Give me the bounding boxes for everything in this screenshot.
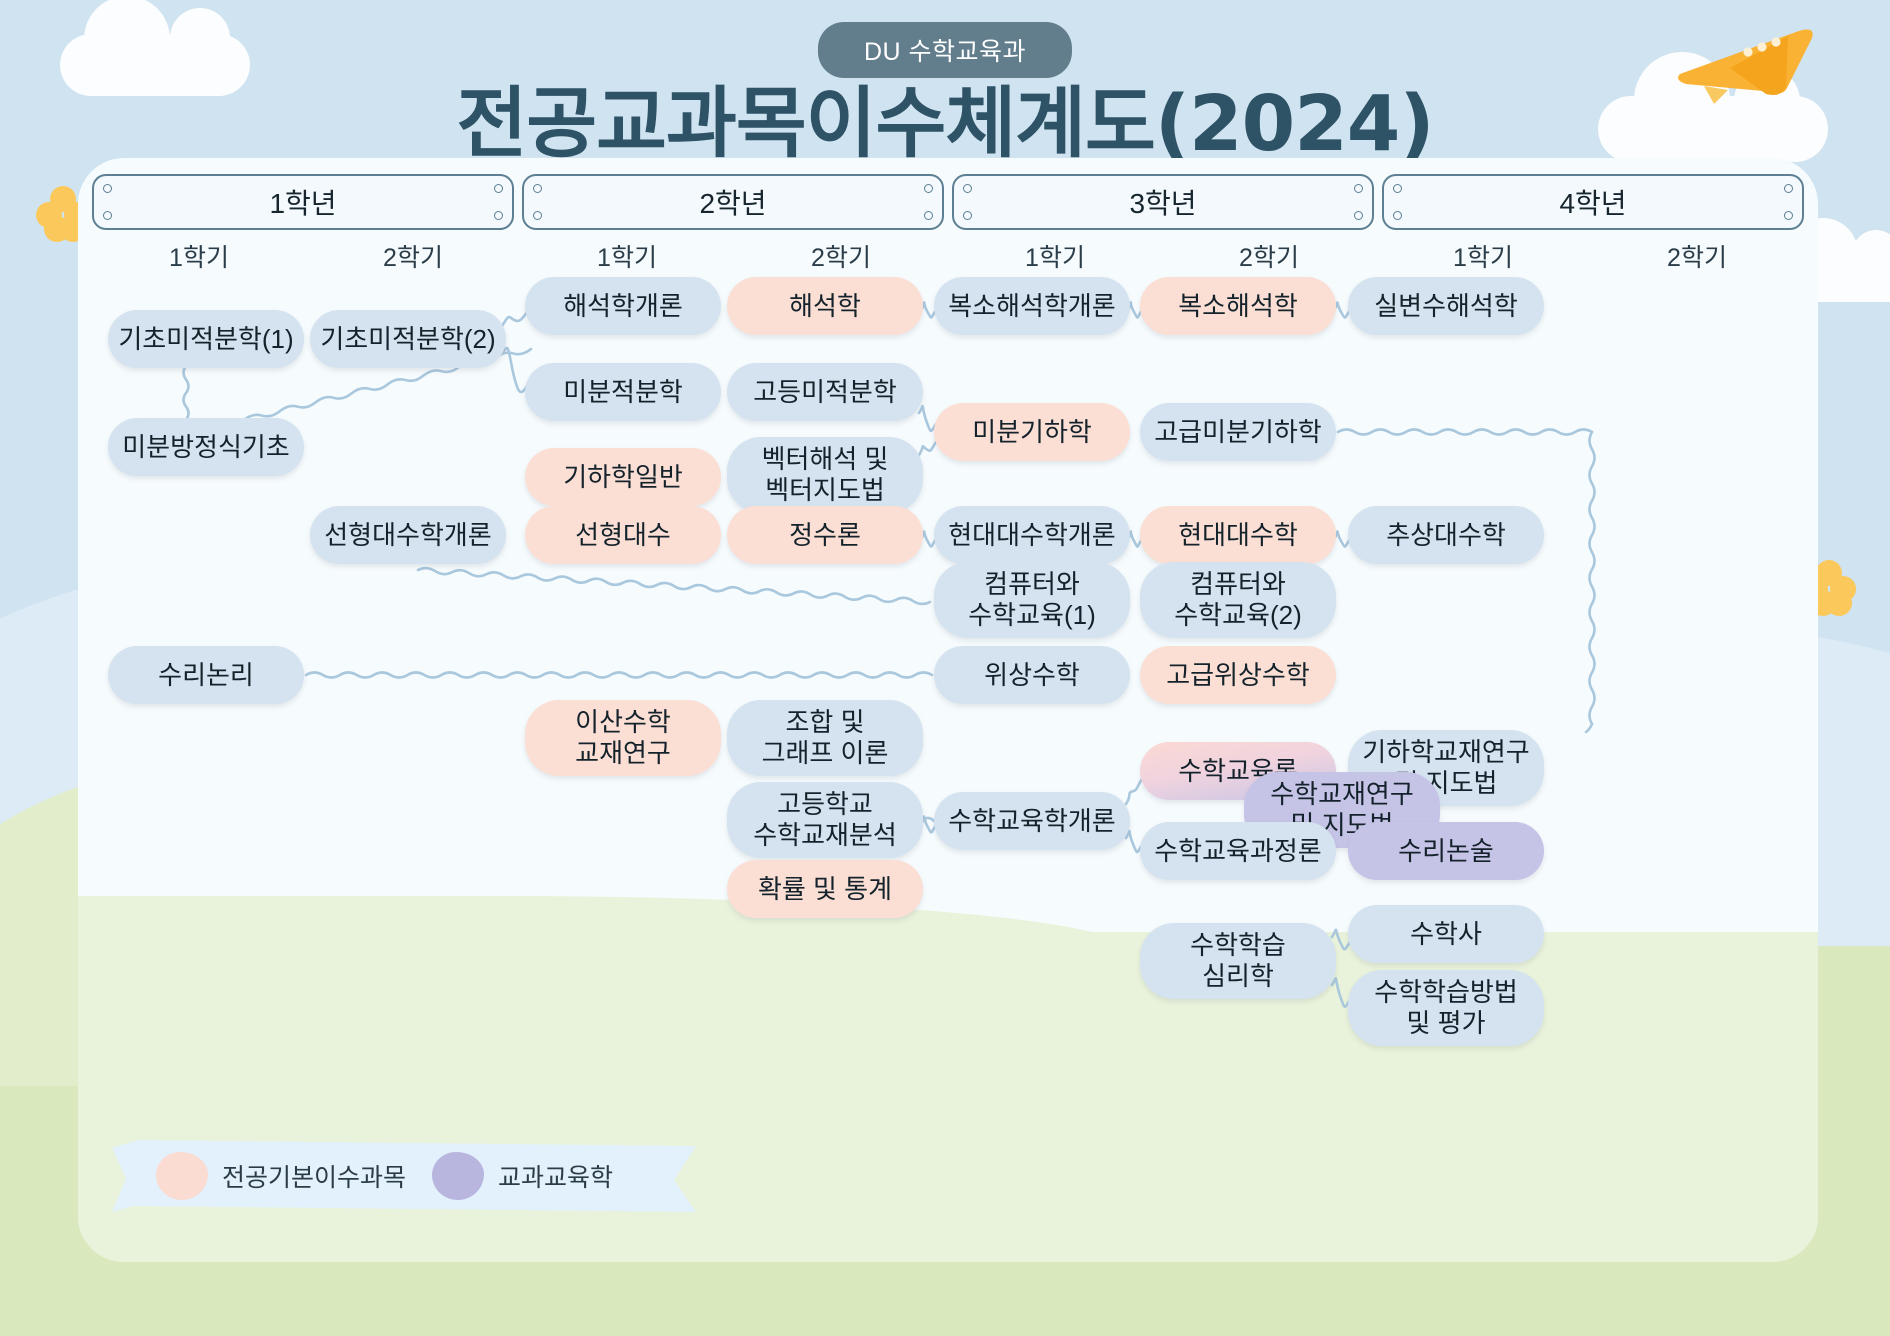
course-pill[interactable]: 수학교육학개론 bbox=[934, 792, 1130, 850]
course-pill[interactable]: 수학학습 심리학 bbox=[1140, 923, 1336, 999]
semester-label: 1학기 bbox=[1376, 238, 1590, 274]
semester-label: 1학기 bbox=[92, 238, 306, 274]
course-label: 수학교육학개론 bbox=[948, 806, 1115, 837]
semester-label: 2학기 bbox=[1590, 238, 1804, 274]
year-box-2[interactable]: 2학년 bbox=[522, 174, 944, 230]
year-box-4[interactable]: 4학년 bbox=[1382, 174, 1804, 230]
course-label: 이산수학 교재연구 bbox=[575, 707, 671, 768]
course-label: 기초미적분학(2) bbox=[320, 324, 495, 355]
course-pill[interactable]: 조합 및 그래프 이론 bbox=[727, 700, 923, 776]
panel-green-section bbox=[78, 932, 1818, 1262]
course-pill[interactable]: 미분기하학 bbox=[934, 403, 1130, 461]
course-label: 조합 및 그래프 이론 bbox=[762, 707, 889, 768]
course-label: 해석학개론 bbox=[563, 291, 683, 322]
course-label: 수리논술 bbox=[1398, 836, 1494, 867]
course-label: 컴퓨터와 수학교육(1) bbox=[968, 569, 1095, 630]
course-label: 확률 및 통계 bbox=[758, 874, 892, 905]
course-label: 실변수해석학 bbox=[1374, 291, 1518, 322]
poster-canvas: DU 수학교육과 전공교과목이수체계도(2024) 1학년 2학년 3학년 4학… bbox=[0, 0, 1890, 1336]
course-label: 수학학습방법 및 평가 bbox=[1374, 977, 1518, 1038]
semester-label: 2학기 bbox=[1162, 238, 1376, 274]
legend-swatch-icon bbox=[432, 1152, 484, 1200]
course-label: 추상대수학 bbox=[1386, 520, 1506, 551]
course-pill[interactable]: 해석학개론 bbox=[525, 277, 721, 335]
course-pill[interactable]: 벡터해석 및 벡터지도법 bbox=[727, 437, 923, 513]
course-pill[interactable]: 미분적분학 bbox=[525, 363, 721, 421]
course-label: 수학사 bbox=[1410, 919, 1482, 950]
course-pill[interactable]: 해석학 bbox=[727, 277, 923, 335]
course-label: 기초미적분학(1) bbox=[118, 324, 293, 355]
year-box-1[interactable]: 1학년 bbox=[92, 174, 514, 230]
course-label: 수학교육과정론 bbox=[1154, 836, 1321, 867]
course-label: 현대대수학 bbox=[1178, 520, 1298, 551]
course-pill[interactable]: 기초미적분학(1) bbox=[108, 310, 304, 368]
year-label: 3학년 bbox=[1129, 182, 1196, 222]
course-pill[interactable]: 추상대수학 bbox=[1348, 506, 1544, 564]
course-label: 위상수학 bbox=[984, 660, 1080, 691]
course-label: 복소해석학 bbox=[1178, 291, 1298, 322]
course-label: 고급위상수학 bbox=[1166, 660, 1310, 691]
course-pill[interactable]: 수학사 bbox=[1348, 905, 1544, 963]
semester-label: 2학기 bbox=[734, 238, 948, 274]
course-pill[interactable]: 고급위상수학 bbox=[1140, 646, 1336, 704]
course-pill[interactable]: 복소해석학 bbox=[1140, 277, 1336, 335]
course-label: 컴퓨터와 수학교육(2) bbox=[1174, 569, 1301, 630]
legend-banner: 전공기본이수과목 교과교육학 bbox=[112, 1140, 696, 1212]
course-label: 해석학 bbox=[789, 291, 861, 322]
course-label: 정수론 bbox=[789, 520, 861, 551]
year-label: 2학년 bbox=[699, 182, 766, 222]
course-pill[interactable]: 고등학교 수학교재분석 bbox=[727, 782, 923, 858]
course-pill[interactable]: 컴퓨터와 수학교육(2) bbox=[1140, 562, 1336, 638]
course-pill[interactable]: 컴퓨터와 수학교육(1) bbox=[934, 562, 1130, 638]
course-pill[interactable]: 고등미적분학 bbox=[727, 363, 923, 421]
course-label: 현대대수학개론 bbox=[948, 520, 1115, 551]
cloud-icon bbox=[60, 34, 250, 96]
semester-label-row: 1학기 2학기 1학기 2학기 1학기 2학기 1학기 2학기 bbox=[92, 238, 1804, 274]
course-pill[interactable]: 수학학습방법 및 평가 bbox=[1348, 970, 1544, 1046]
legend-swatch-icon bbox=[156, 1152, 208, 1200]
legend-label: 교과교육학 bbox=[498, 1158, 613, 1194]
page-title: 전공교과목이수체계도(2024) bbox=[456, 62, 1433, 173]
year-label: 1학년 bbox=[269, 182, 336, 222]
course-pill[interactable]: 기하학일반 bbox=[525, 448, 721, 506]
course-label: 고급미분기하학 bbox=[1154, 417, 1321, 448]
course-pill[interactable]: 미분방정식기초 bbox=[108, 418, 304, 476]
course-pill[interactable]: 기초미적분학(2) bbox=[310, 310, 506, 368]
course-label: 고등학교 수학교재분석 bbox=[753, 789, 897, 850]
course-label: 벡터해석 및 벡터지도법 bbox=[762, 444, 889, 505]
course-pill[interactable]: 선형대수 bbox=[525, 506, 721, 564]
course-label: 선형대수 bbox=[575, 520, 671, 551]
course-pill[interactable]: 정수론 bbox=[727, 506, 923, 564]
course-label: 고등미적분학 bbox=[753, 377, 897, 408]
course-pill[interactable]: 수학교육과정론 bbox=[1140, 822, 1336, 880]
legend-item-major-basic: 전공기본이수과목 bbox=[156, 1152, 406, 1200]
legend-label: 전공기본이수과목 bbox=[222, 1158, 406, 1194]
course-label: 기하학일반 bbox=[563, 462, 683, 493]
semester-label: 2학기 bbox=[306, 238, 520, 274]
year-label: 4학년 bbox=[1559, 182, 1626, 222]
semester-label: 1학기 bbox=[520, 238, 734, 274]
course-label: 수리논리 bbox=[158, 660, 254, 691]
year-box-3[interactable]: 3학년 bbox=[952, 174, 1374, 230]
course-pill[interactable]: 현대대수학 bbox=[1140, 506, 1336, 564]
semester-label: 1학기 bbox=[948, 238, 1162, 274]
course-label: 미분기하학 bbox=[972, 417, 1092, 448]
airplane-icon bbox=[1670, 8, 1820, 108]
course-label: 미분방정식기초 bbox=[122, 432, 289, 463]
course-label: 선형대수학개론 bbox=[324, 520, 491, 551]
course-label: 미분적분학 bbox=[563, 377, 683, 408]
course-label: 복소해석학개론 bbox=[948, 291, 1115, 322]
course-pill[interactable]: 수리논리 bbox=[108, 646, 304, 704]
course-pill[interactable]: 수리논술 bbox=[1348, 822, 1544, 880]
course-pill[interactable]: 위상수학 bbox=[934, 646, 1130, 704]
course-label: 수학학습 심리학 bbox=[1190, 930, 1286, 991]
course-pill[interactable]: 복소해석학개론 bbox=[934, 277, 1130, 335]
legend-item-subject-education: 교과교육학 bbox=[432, 1152, 613, 1200]
course-pill[interactable]: 실변수해석학 bbox=[1348, 277, 1544, 335]
course-pill[interactable]: 현대대수학개론 bbox=[934, 506, 1130, 564]
course-pill[interactable]: 선형대수학개론 bbox=[310, 506, 506, 564]
year-header-row: 1학년 2학년 3학년 4학년 bbox=[92, 174, 1804, 230]
course-pill[interactable]: 확률 및 통계 bbox=[727, 860, 923, 918]
course-pill[interactable]: 고급미분기하학 bbox=[1140, 403, 1336, 461]
course-pill[interactable]: 이산수학 교재연구 bbox=[525, 700, 721, 776]
